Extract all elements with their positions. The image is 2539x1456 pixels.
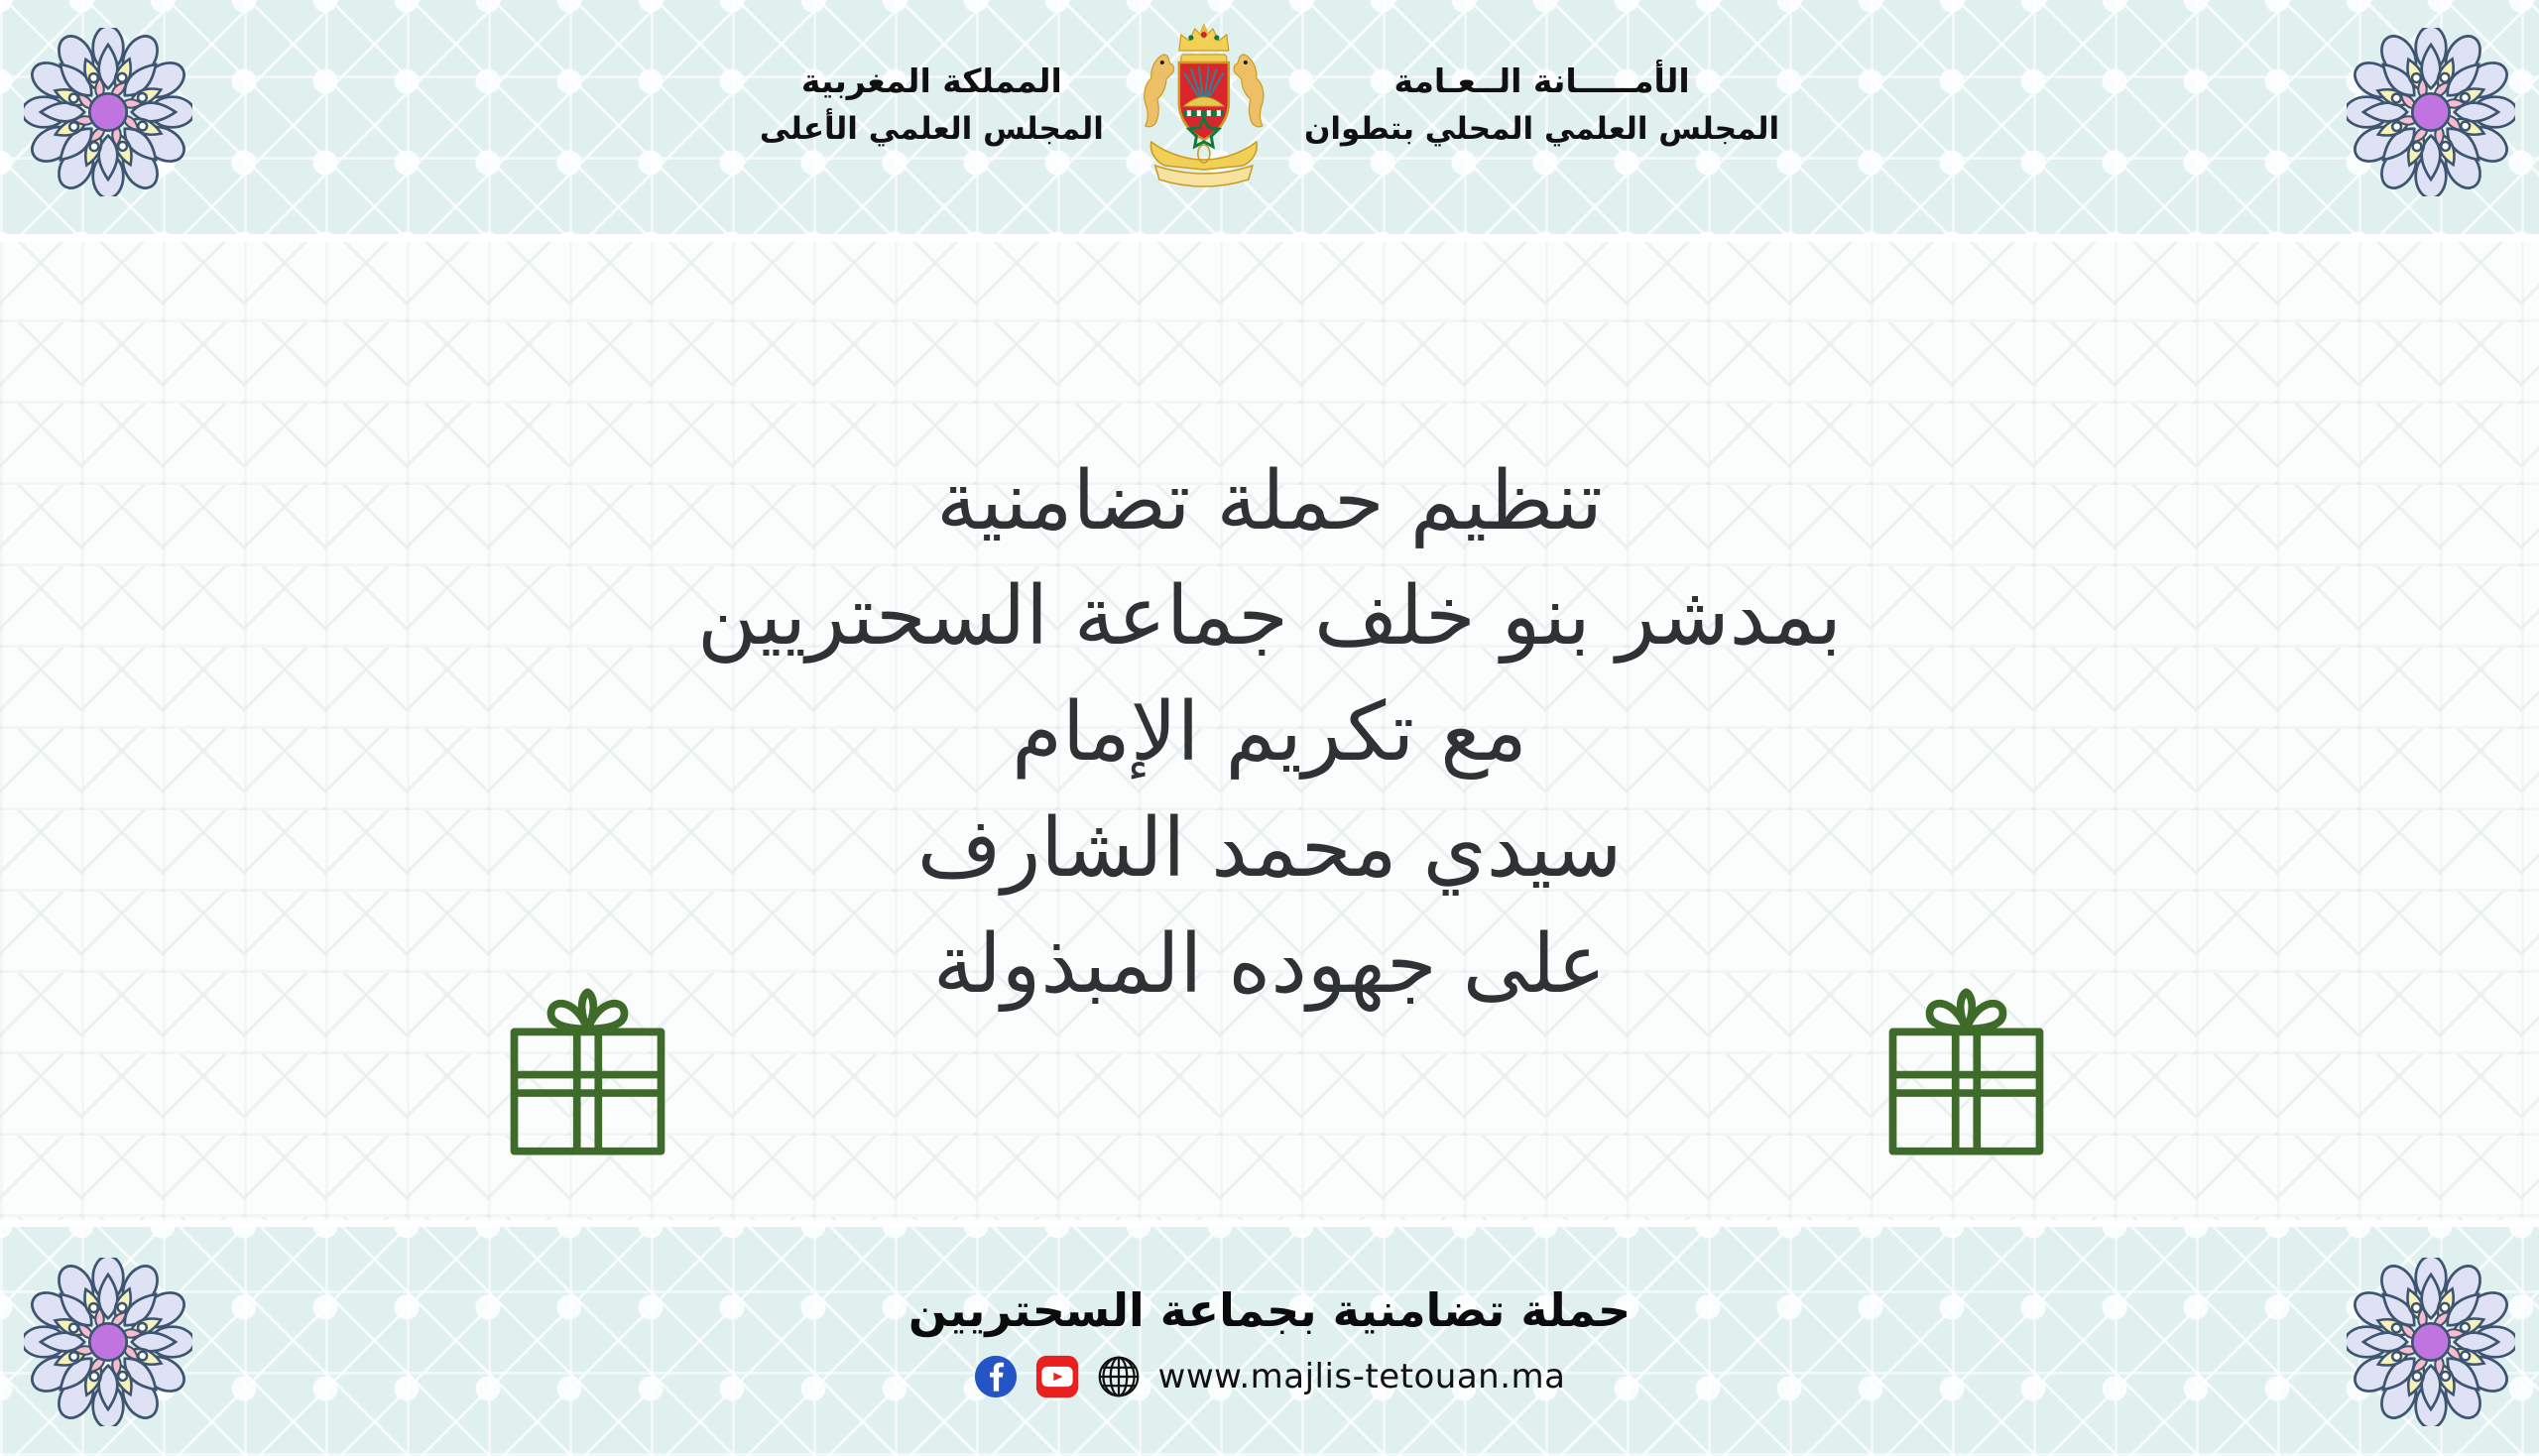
- header-kingdom-block: المملكة المغربية المجلس العلمي الأعلى: [760, 57, 1104, 152]
- mandala-ornament-top-left: [24, 28, 192, 196]
- globe-icon[interactable]: [1097, 1355, 1141, 1398]
- youtube-icon[interactable]: [1035, 1355, 1079, 1398]
- footer-links-row: www.majlis-tetouan.ma: [974, 1355, 1566, 1398]
- website-url[interactable]: www.majlis-tetouan.ma: [1158, 1357, 1566, 1396]
- gift-box-icon-left: [496, 985, 679, 1158]
- moroccan-coat-of-arms-icon: [1130, 15, 1278, 193]
- main-text-stack: تنظيم حملة تضامنية بمدشر بنو خلف جماعة ا…: [0, 241, 2539, 1226]
- facebook-icon[interactable]: [974, 1355, 1018, 1398]
- header-secretariat-line2: المجلس العلمي المحلي بتطوان: [1304, 106, 1779, 153]
- header-divider: [0, 234, 2539, 242]
- footer-divider: [0, 1220, 2539, 1227]
- main-line-2: بمدشر بنو خلف جماعة السحتريين: [697, 562, 1842, 672]
- header-band: الأمـــــانة الــعـامة المجلس العلمي الم…: [0, 0, 2539, 241]
- header-inner: الأمـــــانة الــعـامة المجلس العلمي الم…: [0, 0, 2539, 241]
- gift-box-icon-right: [1874, 985, 2058, 1158]
- header-kingdom-line1: المملكة المغربية: [760, 57, 1104, 106]
- main-line-4: سيدي محمد الشارف: [917, 794, 1623, 905]
- header-center-group: الأمـــــانة الــعـامة المجلس العلمي الم…: [760, 0, 1779, 208]
- main-line-1: تنظيم حملة تضامنية: [936, 447, 1603, 557]
- footer-content: حملة تضامنية بجماعة السحتريين: [0, 1226, 2539, 1456]
- footer-campaign-title: حملة تضامنية بجماعة السحتريين: [908, 1283, 1631, 1337]
- mandala-ornament-top-right: [2347, 28, 2515, 196]
- header-secretariat-block: الأمـــــانة الــعـامة المجلس العلمي الم…: [1304, 57, 1779, 152]
- main-line-5: على جهوده المبذولة: [933, 910, 1606, 1021]
- header-secretariat-line1: الأمـــــانة الــعـامة: [1304, 57, 1779, 106]
- footer-band: حملة تضامنية بجماعة السحتريين: [0, 1226, 2539, 1456]
- main-panel: تنظيم حملة تضامنية بمدشر بنو خلف جماعة ا…: [0, 241, 2539, 1226]
- header-kingdom-line2: المجلس العلمي الأعلى: [760, 106, 1104, 153]
- main-line-3: مع تكريم الإمام: [1012, 678, 1527, 789]
